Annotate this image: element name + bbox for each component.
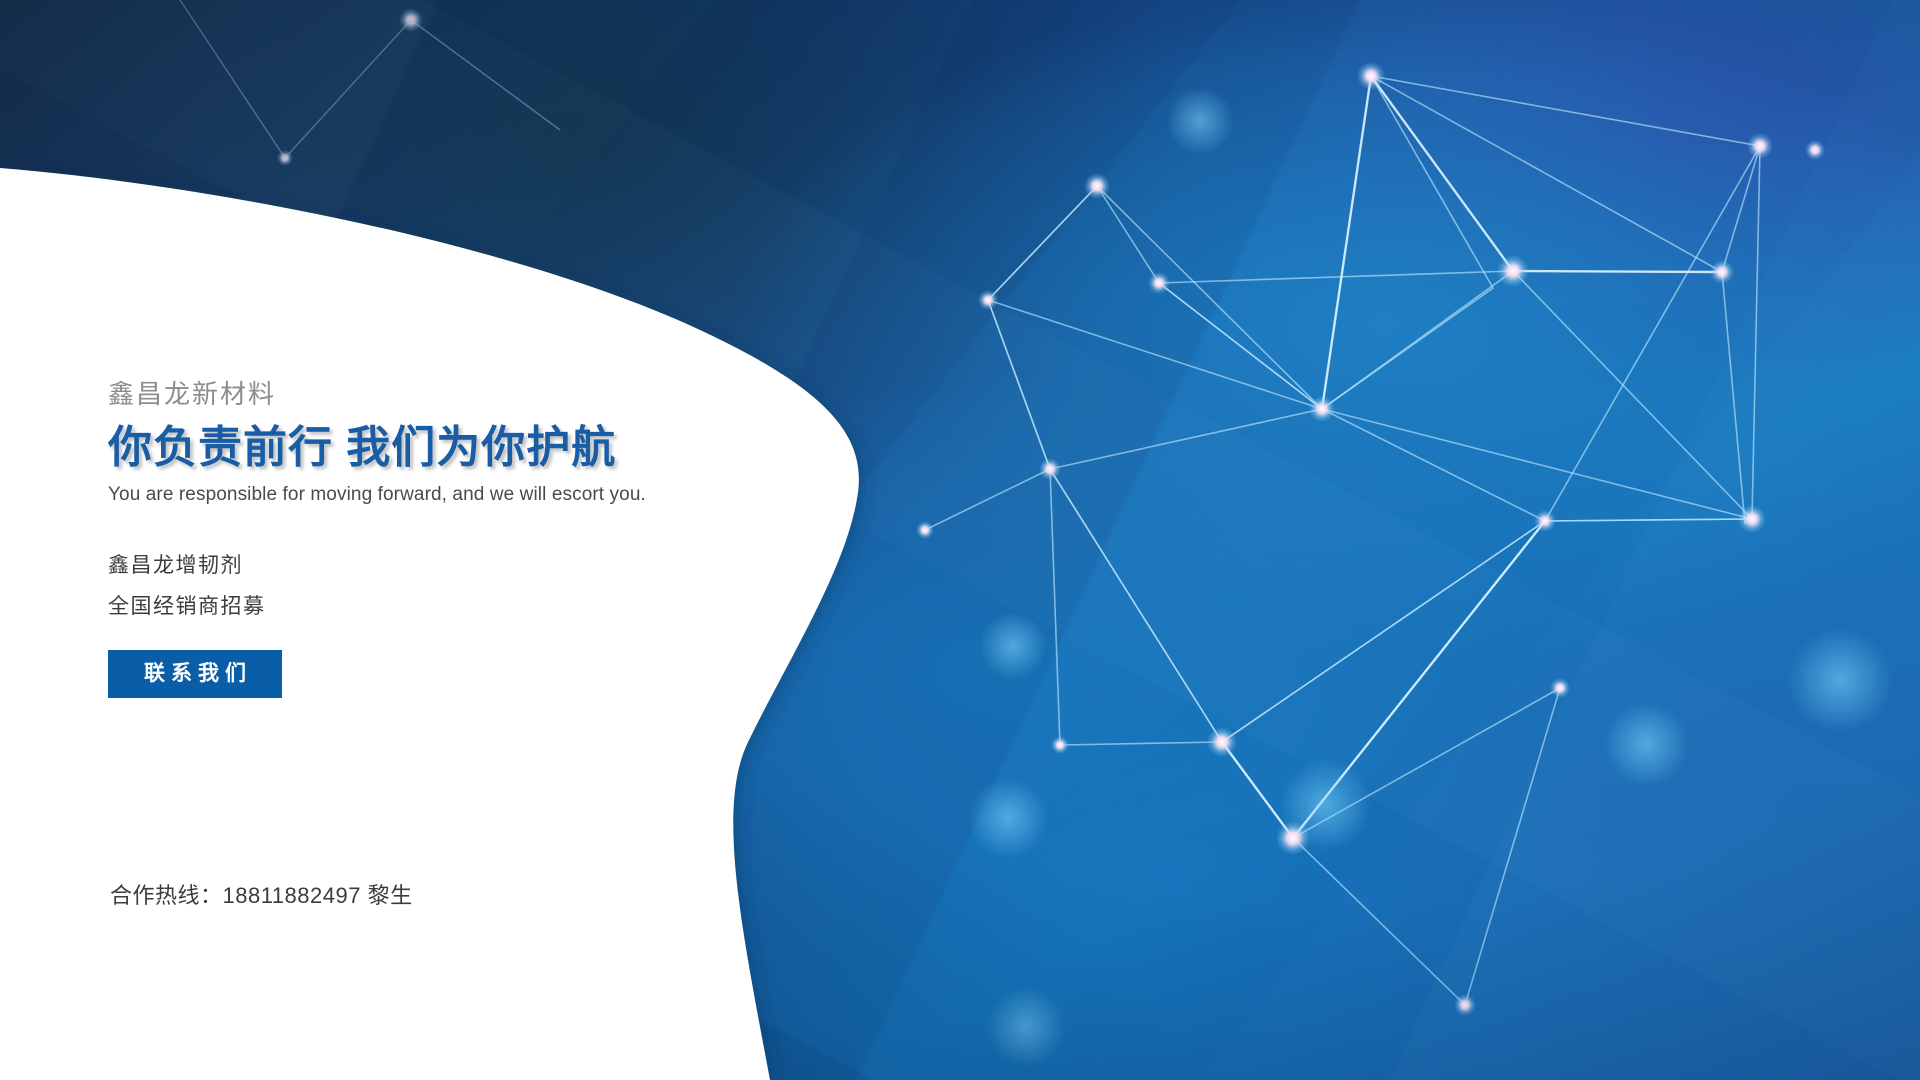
promo-line-recruit: 全国经销商招募: [108, 587, 728, 628]
promo-block: 鑫昌龙增韧剂 全国经销商招募: [108, 546, 728, 628]
hero-banner: 鑫昌龙新材料 你负责前行 我们为你护航 You are responsible …: [0, 0, 1920, 1080]
brand-name: 鑫昌龙新材料: [108, 378, 728, 411]
hero-content: 鑫昌龙新材料 你负责前行 我们为你护航 You are responsible …: [108, 378, 728, 698]
hero-headline: 你负责前行 我们为你护航: [108, 423, 728, 472]
hotline-text: 合作热线：18811882497 黎生: [110, 878, 413, 910]
promo-line-product: 鑫昌龙增韧剂: [108, 546, 728, 587]
hero-subtitle: You are responsible for moving forward, …: [108, 484, 728, 506]
contact-us-button[interactable]: 联系我们: [108, 650, 282, 698]
